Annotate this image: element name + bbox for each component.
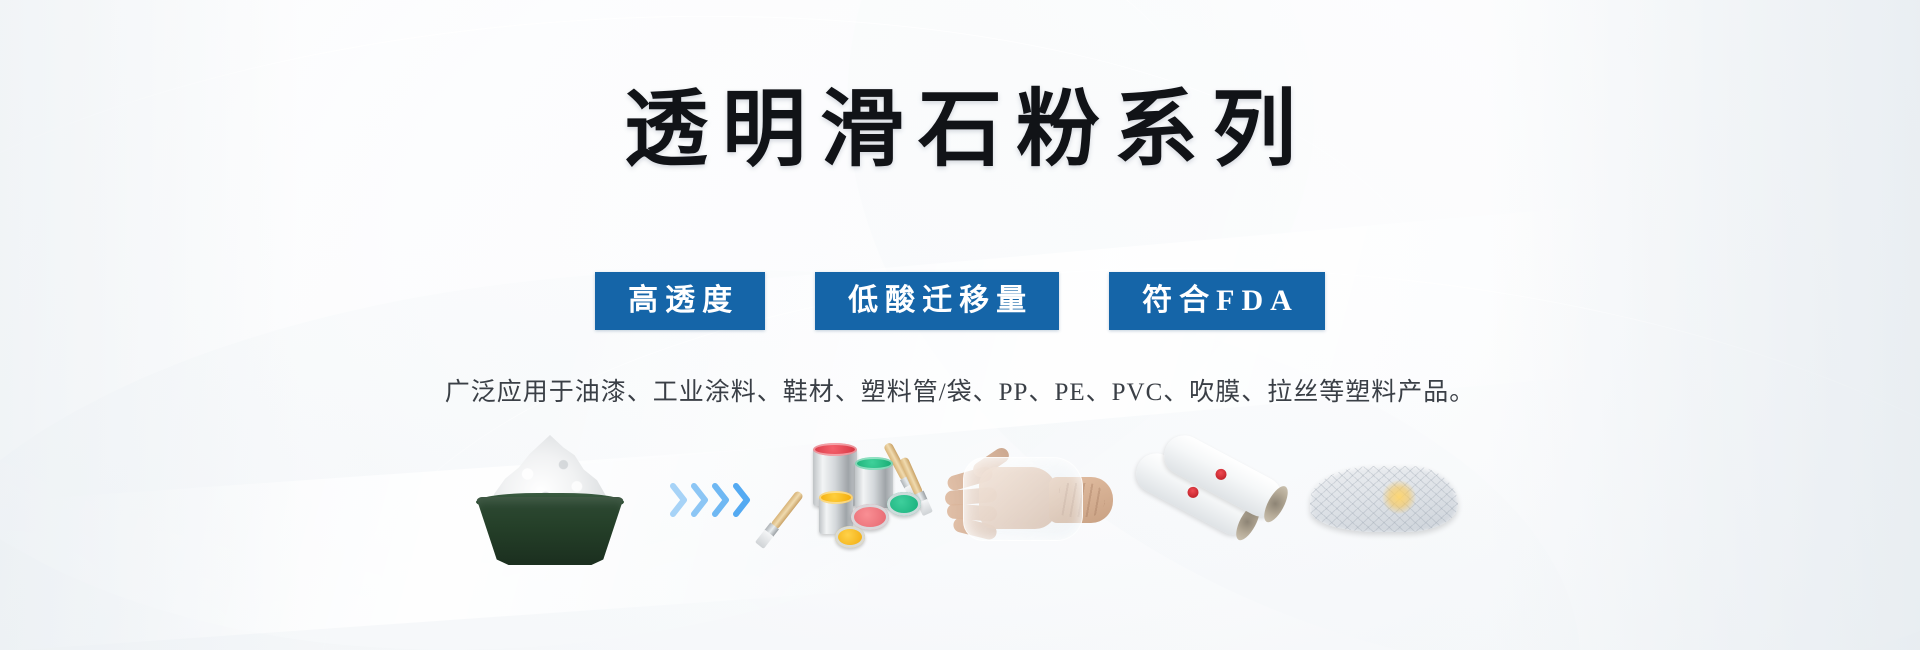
paint-cans-image	[770, 425, 940, 575]
film-roll-end	[1260, 483, 1293, 526]
chevron-right-icon	[711, 483, 731, 517]
chevron-right-icon	[690, 483, 710, 517]
feature-badge-fda-compliant[interactable]: 符合FDA	[1109, 272, 1325, 330]
feature-badge-low-acid-migration[interactable]: 低酸迁移量	[815, 272, 1059, 330]
bowl-body	[476, 497, 624, 565]
film-roll-logo-dot	[1186, 485, 1201, 500]
film-roll-logo-dot	[1214, 467, 1229, 482]
banner-subtitle: 广泛应用于油漆、工业涂料、鞋材、塑料管/袋、PP、PE、PVC、吹膜、拉丝等塑料…	[0, 372, 1920, 408]
chevron-right-icon	[669, 483, 689, 517]
plastic-glove-hand-image	[940, 425, 1120, 575]
application-showcase-strip	[0, 415, 1920, 585]
process-arrows-icon	[650, 425, 770, 575]
feature-badge-high-transparency[interactable]: 高透度	[595, 272, 765, 330]
product-banner: 透明滑石粉系列 高透度 低酸迁移量 符合FDA 广泛应用于油漆、工业涂料、鞋材、…	[0, 0, 1920, 650]
paint-lid-yellow	[835, 526, 865, 548]
shoe-insole-image	[1300, 425, 1470, 575]
chevron-right-icon	[732, 483, 752, 517]
talc-powder-bowl-image	[450, 425, 650, 575]
plastic-film-rolls-image	[1120, 425, 1300, 575]
transparent-glove-film	[963, 457, 1083, 541]
feature-badge-list: 高透度 低酸迁移量 符合FDA	[0, 272, 1920, 330]
banner-title: 透明滑石粉系列	[0, 84, 1920, 178]
paint-lid-pink	[851, 504, 889, 530]
insole-highlight	[1382, 480, 1416, 514]
paint-lid-green	[887, 492, 921, 516]
